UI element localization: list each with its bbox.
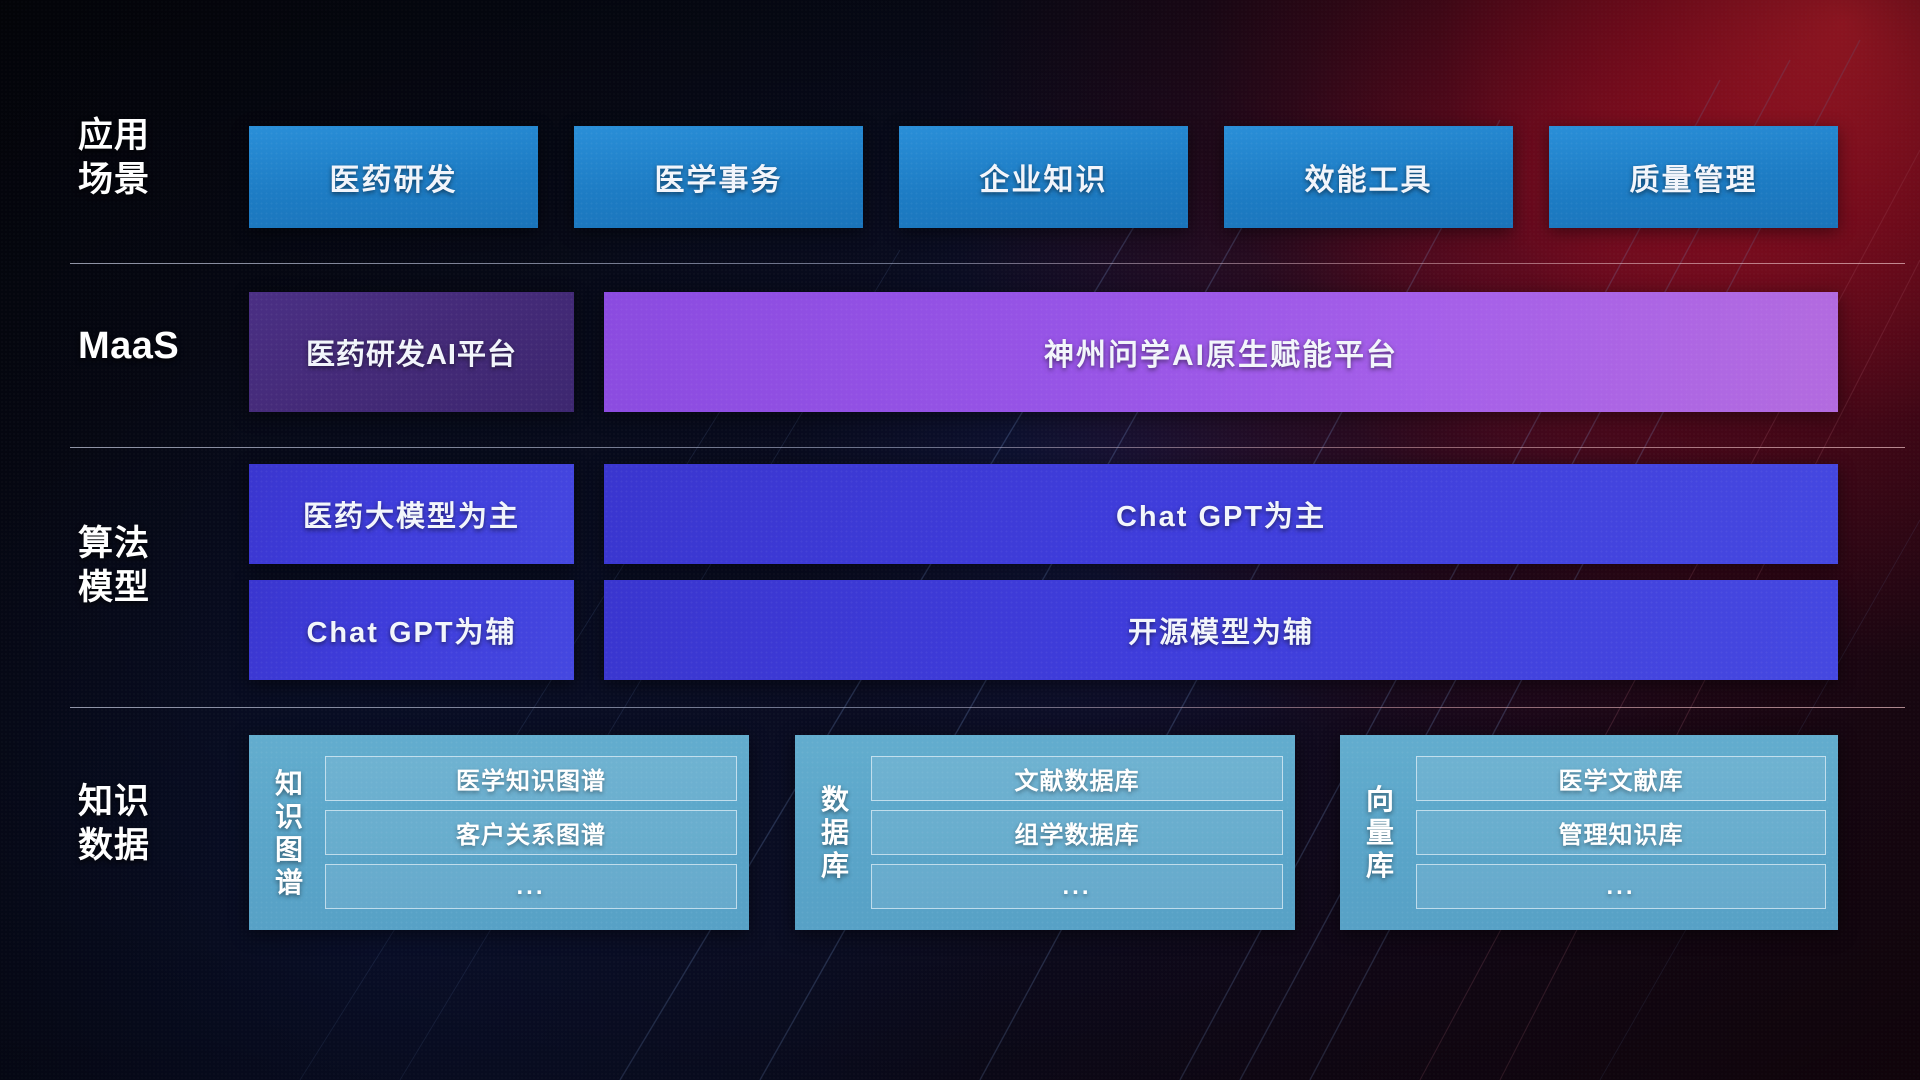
row-label-maas: MaaS bbox=[78, 324, 238, 368]
maas-tile-label: 医药研发AI平台 bbox=[306, 331, 517, 373]
algo-tile-medical-llm-primary[interactable]: 医药大模型为主 bbox=[249, 464, 574, 564]
algo-tile-label: 开源模型为辅 bbox=[1128, 609, 1314, 651]
knowledge-item[interactable]: 客户关系图谱 bbox=[325, 810, 737, 855]
knowledge-item-more[interactable]: ... bbox=[871, 864, 1283, 909]
app-tile-drug-rd[interactable]: 医药研发 bbox=[249, 126, 538, 228]
knowledge-item[interactable]: 组学数据库 bbox=[871, 810, 1283, 855]
app-tile-enterprise-knowledge[interactable]: 企业知识 bbox=[899, 126, 1188, 228]
algo-tile-label: Chat GPT为主 bbox=[1116, 493, 1326, 535]
maas-tile-shenzhou-wenxue-platform[interactable]: 神州问学AI原生赋能平台 bbox=[604, 292, 1838, 412]
knowledge-panel-items: 医学知识图谱 客户关系图谱 ... bbox=[325, 756, 737, 909]
app-tile-medical-affairs[interactable]: 医学事务 bbox=[574, 126, 863, 228]
knowledge-item-more[interactable]: ... bbox=[1416, 864, 1826, 909]
row-label-application: 应用 场景 bbox=[78, 114, 238, 202]
knowledge-panel-vector-store[interactable]: 向量库 医学文献库 管理知识库 ... bbox=[1340, 735, 1838, 930]
row-application: 应用 场景 医药研发 医学事务 企业知识 效能工具 质量管理 bbox=[0, 126, 1920, 228]
app-tile-label: 医学事务 bbox=[655, 155, 783, 199]
knowledge-panel-database[interactable]: 数据库 文献数据库 组学数据库 ... bbox=[795, 735, 1295, 930]
knowledge-item[interactable]: 医学文献库 bbox=[1416, 756, 1826, 801]
row-label-algorithm-line1: 算法 bbox=[78, 522, 238, 566]
knowledge-panel-knowledge-graph[interactable]: 知识图谱 医学知识图谱 客户关系图谱 ... bbox=[249, 735, 749, 930]
maas-tile-drug-rd-ai-platform[interactable]: 医药研发AI平台 bbox=[249, 292, 574, 412]
knowledge-item[interactable]: 医学知识图谱 bbox=[325, 756, 737, 801]
knowledge-item[interactable]: 文献数据库 bbox=[871, 756, 1283, 801]
app-tile-label: 医药研发 bbox=[330, 155, 458, 199]
app-tile-efficiency-tools[interactable]: 效能工具 bbox=[1224, 126, 1513, 228]
app-tile-label: 质量管理 bbox=[1630, 155, 1758, 199]
architecture-diagram-slide: 应用 场景 医药研发 医学事务 企业知识 效能工具 质量管理 bbox=[0, 0, 1920, 1080]
divider-algorithm-knowledge bbox=[70, 707, 1905, 708]
row-maas: MaaS 医药研发AI平台 神州问学AI原生赋能平台 bbox=[0, 292, 1920, 412]
app-tile-label: 效能工具 bbox=[1305, 155, 1433, 199]
knowledge-panel-label: 数据库 bbox=[809, 783, 861, 882]
knowledge-item-more[interactable]: ... bbox=[325, 864, 737, 909]
knowledge-panel-items: 文献数据库 组学数据库 ... bbox=[871, 756, 1283, 909]
algo-tile-label: Chat GPT为辅 bbox=[306, 609, 516, 651]
divider-application-maas bbox=[70, 263, 1905, 264]
knowledge-panel-label: 向量库 bbox=[1354, 783, 1406, 882]
algo-tile-chatgpt-secondary[interactable]: Chat GPT为辅 bbox=[249, 580, 574, 680]
row-knowledge: 知识 数据 知识图谱 医学知识图谱 客户关系图谱 ... 数据库 文献数据库 bbox=[0, 735, 1920, 930]
app-tile-quality-management[interactable]: 质量管理 bbox=[1549, 126, 1838, 228]
row-label-knowledge-line1: 知识 bbox=[78, 780, 238, 824]
row-label-algorithm-line2: 模型 bbox=[78, 566, 238, 610]
maas-tile-label: 神州问学AI原生赋能平台 bbox=[1044, 330, 1398, 374]
divider-maas-algorithm bbox=[70, 447, 1905, 448]
row-label-application-line1: 应用 bbox=[78, 114, 238, 158]
algo-tile-label: 医药大模型为主 bbox=[303, 493, 520, 535]
row-algorithm: 算法 模型 医药大模型为主 Chat GPT为主 Chat GPT为辅 开源模型… bbox=[0, 464, 1920, 696]
knowledge-panel-items: 医学文献库 管理知识库 ... bbox=[1416, 756, 1826, 909]
algo-tile-chatgpt-primary[interactable]: Chat GPT为主 bbox=[604, 464, 1838, 564]
row-label-application-line2: 场景 bbox=[78, 158, 238, 202]
row-label-algorithm: 算法 模型 bbox=[78, 522, 238, 610]
knowledge-panel-label: 知识图谱 bbox=[263, 767, 315, 899]
row-label-knowledge: 知识 数据 bbox=[78, 780, 238, 868]
app-tile-label: 企业知识 bbox=[980, 155, 1108, 199]
row-label-knowledge-line2: 数据 bbox=[78, 824, 238, 868]
algo-tile-opensource-secondary[interactable]: 开源模型为辅 bbox=[604, 580, 1838, 680]
knowledge-item[interactable]: 管理知识库 bbox=[1416, 810, 1826, 855]
